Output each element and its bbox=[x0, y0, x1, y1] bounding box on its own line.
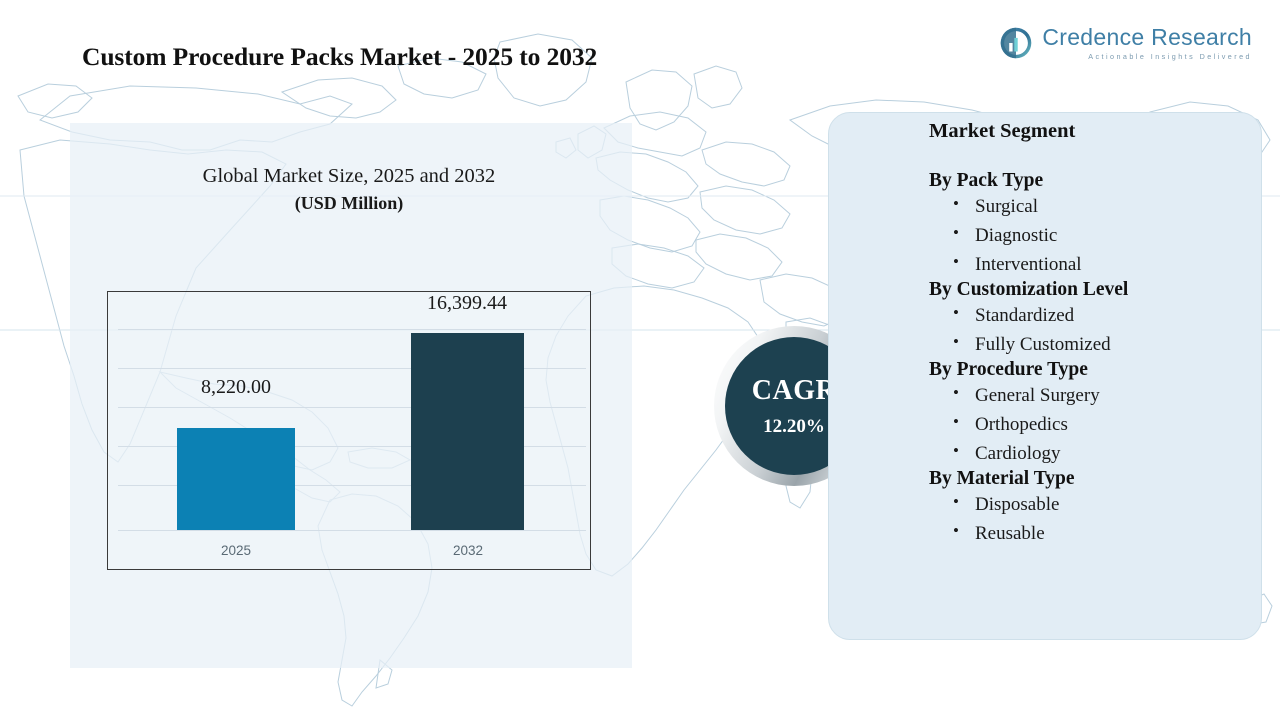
list-item: •Surgical bbox=[975, 192, 1249, 221]
bar-chart-circle-logo-icon bbox=[999, 26, 1033, 60]
segment-item-label: Surgical bbox=[975, 196, 1038, 217]
bullet-icon: • bbox=[953, 380, 959, 406]
page-title: Custom Procedure Packs Market - 2025 to … bbox=[82, 42, 597, 72]
bullet-icon: • bbox=[953, 249, 959, 275]
segment-item-list: •Surgical •Diagnostic •Interventional bbox=[929, 192, 1249, 279]
bullet-icon: • bbox=[953, 489, 959, 515]
segment-item-label: Disposable bbox=[975, 494, 1059, 515]
segment-group-customization-level: By Customization Level •Standardized •Fu… bbox=[929, 279, 1249, 359]
segment-item-label: General Surgery bbox=[975, 385, 1100, 406]
segment-group-title: By Procedure Type bbox=[929, 359, 1249, 381]
segment-item-label: Orthopedics bbox=[975, 414, 1068, 435]
bullet-icon: • bbox=[953, 409, 959, 435]
chart-title: Global Market Size, 2025 and 2032 bbox=[108, 165, 590, 188]
list-item: •General Surgery bbox=[975, 381, 1249, 410]
cagr-label: CAGR bbox=[752, 375, 836, 407]
segment-item-label: Standardized bbox=[975, 305, 1074, 326]
market-segment-content: Market Segment By Pack Type •Surgical •D… bbox=[929, 120, 1249, 548]
list-item: •Cardiology bbox=[975, 439, 1249, 468]
segment-item-label: Fully Customized bbox=[975, 334, 1111, 355]
x-axis-label-2025: 2025 bbox=[169, 543, 303, 558]
bar-2025 bbox=[177, 428, 295, 530]
segment-group-title: By Customization Level bbox=[929, 279, 1249, 301]
cagr-value: 12.20% bbox=[763, 416, 825, 438]
segment-group-material-type: By Material Type •Disposable •Reusable bbox=[929, 468, 1249, 548]
list-item: •Standardized bbox=[975, 301, 1249, 330]
x-axis-label-2032: 2032 bbox=[403, 543, 533, 558]
list-item: •Orthopedics bbox=[975, 410, 1249, 439]
segment-item-label: Interventional bbox=[975, 254, 1082, 275]
brand-text: Credence Research Actionable Insights De… bbox=[1042, 26, 1252, 60]
bullet-icon: • bbox=[953, 438, 959, 464]
segment-item-list: •General Surgery •Orthopedics •Cardiolog… bbox=[929, 381, 1249, 468]
market-segment-title: Market Segment bbox=[929, 120, 1249, 143]
chart-heading: Global Market Size, 2025 and 2032 (USD M… bbox=[108, 165, 590, 214]
segment-group-pack-type: By Pack Type •Surgical •Diagnostic •Inte… bbox=[929, 170, 1249, 279]
bullet-icon: • bbox=[953, 191, 959, 217]
bullet-icon: • bbox=[953, 300, 959, 326]
bullet-icon: • bbox=[953, 329, 959, 355]
brand-name: Credence Research bbox=[1042, 26, 1252, 49]
segment-item-list: •Disposable •Reusable bbox=[929, 490, 1249, 548]
bar-2032 bbox=[411, 333, 524, 530]
infographic-root: Custom Procedure Packs Market - 2025 to … bbox=[0, 0, 1280, 720]
bullet-icon: • bbox=[953, 220, 959, 246]
chart-subtitle: (USD Million) bbox=[108, 193, 590, 214]
brand-tagline: Actionable Insights Delivered bbox=[1042, 53, 1252, 60]
list-item: •Disposable bbox=[975, 490, 1249, 519]
segment-item-label: Reusable bbox=[975, 523, 1045, 544]
list-item: •Fully Customized bbox=[975, 330, 1249, 359]
brand-logo[interactable]: Credence Research Actionable Insights De… bbox=[999, 26, 1252, 60]
list-item: •Reusable bbox=[975, 519, 1249, 548]
bullet-icon: • bbox=[953, 518, 959, 544]
segment-item-label: Cardiology bbox=[975, 443, 1061, 464]
bar-value-2025: 8,220.00 bbox=[163, 376, 309, 399]
bar-chart-plot: 8,220.00 16,399.44 2025 2032 bbox=[107, 291, 591, 570]
segment-item-list: •Standardized •Fully Customized bbox=[929, 301, 1249, 359]
bar-value-2032: 16,399.44 bbox=[392, 292, 542, 315]
list-item: •Interventional bbox=[975, 250, 1249, 279]
segment-group-title: By Material Type bbox=[929, 468, 1249, 490]
list-item: •Diagnostic bbox=[975, 221, 1249, 250]
segment-group-title: By Pack Type bbox=[929, 170, 1249, 192]
segment-item-label: Diagnostic bbox=[975, 225, 1057, 246]
segment-group-procedure-type: By Procedure Type •General Surgery •Orth… bbox=[929, 359, 1249, 468]
